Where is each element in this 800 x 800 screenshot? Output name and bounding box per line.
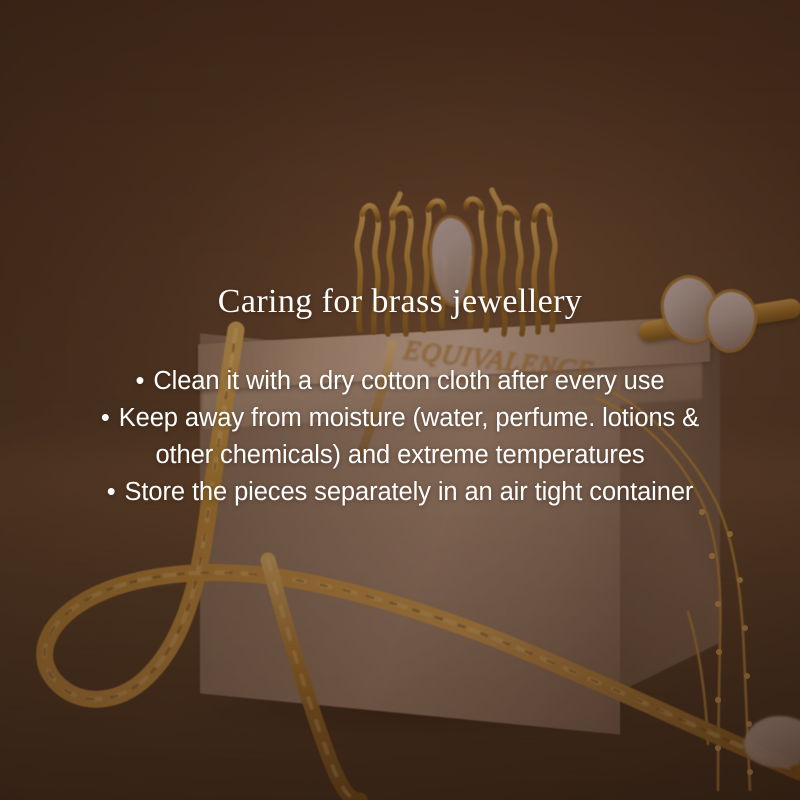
list-item-text: Keep away from moisture (water, perfume.… — [119, 404, 699, 432]
list-item-continuation: other chemicals) and extreme temperature… — [0, 437, 800, 474]
bullet-marker: • — [136, 363, 145, 400]
bullet-marker: • — [101, 400, 110, 437]
care-instructions-list: •Clean it with a dry cotton cloth after … — [0, 363, 800, 511]
list-item-text: Clean it with a dry cotton cloth after e… — [153, 367, 664, 395]
bullet-marker: • — [107, 474, 116, 511]
text-overlay: Caring for brass jewellery •Clean it wit… — [0, 0, 800, 800]
list-item-text: Store the pieces separately in an air ti… — [125, 478, 694, 506]
list-item: •Clean it with a dry cotton cloth after … — [0, 363, 800, 400]
list-item-text: other chemicals) and extreme temperature… — [155, 441, 644, 469]
page-title: Caring for brass jewellery — [0, 283, 800, 321]
list-item: •Keep away from moisture (water, perfume… — [0, 400, 800, 437]
graphic-canvas: EQUIVALENCE ence.com — [0, 0, 800, 800]
list-item: •Store the pieces separately in an air t… — [0, 474, 800, 511]
